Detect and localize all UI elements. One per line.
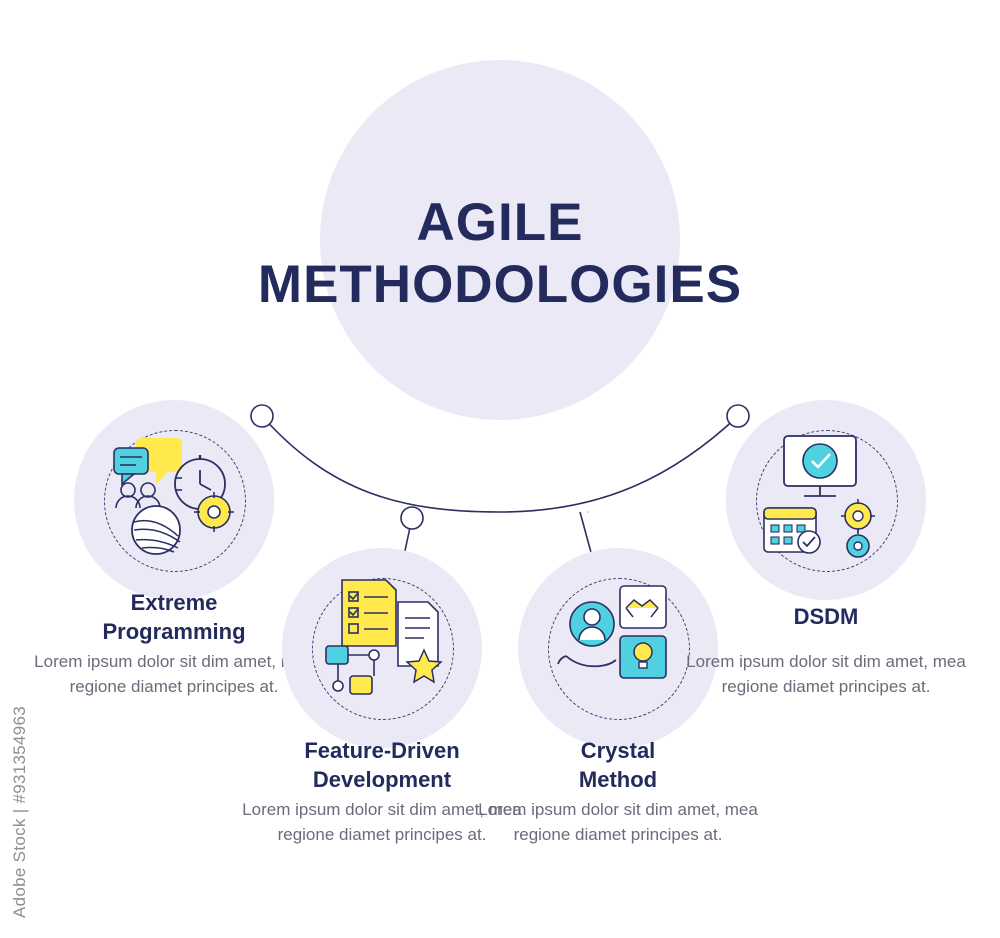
node-title-line1: DSDM [686,602,966,631]
checklist-document-star-icon [312,570,462,720]
center-title-line1: AGILE [240,192,760,254]
node-description-crystal-method: Lorem ipsum dolor sit dim amet, mea regi… [478,798,758,847]
node-title-line1: Crystal [478,736,758,765]
chat-stopwatch-gear-icon [104,424,252,572]
center-title-line2: METHODOLOGIES [240,254,760,316]
node-title-line2: Programming [34,617,314,646]
node-title-crystal-method: Crystal Method [478,736,758,795]
node-title-line2: Method [478,765,758,794]
monitor-calendar-gears-icon [754,424,904,574]
infographic-canvas: AGILE METHODOLOGIES [0,0,1000,938]
page-title: AGILE METHODOLOGIES [240,192,760,316]
people-handshake-idea-icon [546,572,696,722]
node-description-dsdm: Lorem ipsum dolor sit dim amet, mea regi… [686,650,966,699]
watermark-text: Adobe Stock | #931354963 [10,688,36,918]
node-title-line1: Extreme [34,588,314,617]
node-description-extreme-programming: Lorem ipsum dolor sit dim amet, mea regi… [34,650,314,699]
node-title-extreme-programming: Extreme Programming [34,588,314,647]
node-title-dsdm: DSDM [686,602,966,631]
